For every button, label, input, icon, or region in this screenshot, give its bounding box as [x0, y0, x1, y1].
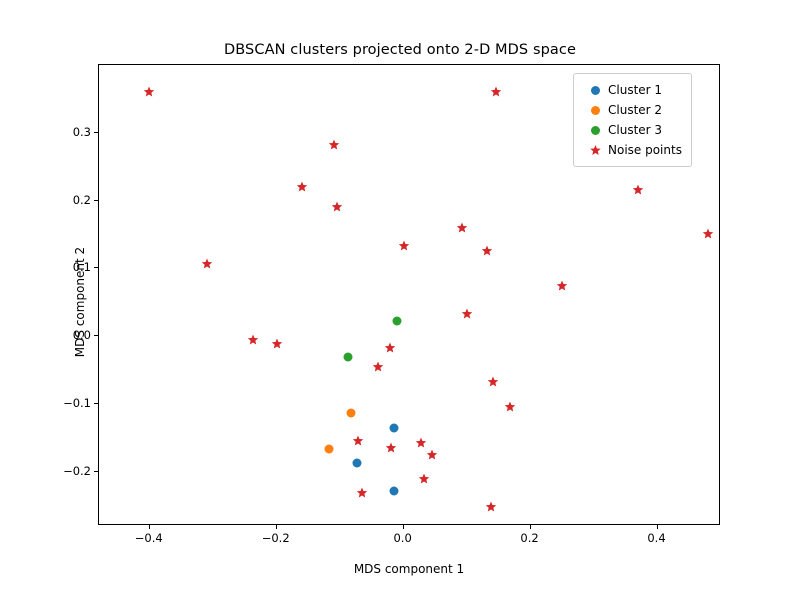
x-axis-tick	[403, 525, 404, 529]
data-point	[393, 317, 402, 326]
x-axis-tick-label: −0.2	[262, 531, 290, 545]
x-axis-tick	[530, 525, 531, 529]
data-point	[343, 352, 352, 361]
data-point	[457, 223, 468, 234]
legend-circle-icon	[582, 106, 608, 115]
data-point	[332, 202, 343, 213]
data-point	[271, 339, 282, 350]
data-point	[633, 184, 644, 195]
y-axis-tick	[94, 471, 98, 472]
legend-item[interactable]: Cluster 1	[582, 80, 682, 100]
data-point	[398, 241, 409, 252]
legend-item-label: Cluster 2	[608, 103, 662, 117]
y-axis-tick	[94, 403, 98, 404]
chart-title: DBSCAN clusters projected onto 2-D MDS s…	[0, 42, 800, 58]
data-point	[384, 342, 395, 353]
x-axis-tick-label: 0.0	[393, 531, 411, 545]
data-point	[373, 361, 384, 372]
data-point	[389, 424, 398, 433]
data-point	[418, 473, 429, 484]
data-point	[201, 259, 212, 270]
legend-star-icon	[582, 145, 608, 156]
data-point	[324, 444, 333, 453]
legend-item[interactable]: Cluster 2	[582, 100, 682, 120]
x-axis-tick-label: −0.4	[135, 531, 163, 545]
x-axis-tick	[657, 525, 658, 529]
x-axis-tick	[149, 525, 150, 529]
data-point	[416, 438, 427, 449]
data-point	[426, 450, 437, 461]
data-point	[462, 309, 473, 320]
x-axis-tick-label: 0.4	[647, 531, 665, 545]
chart-legend: Cluster 1Cluster 2Cluster 3Noise points	[573, 73, 692, 167]
y-axis-tick	[94, 132, 98, 133]
matplotlib-figure: DBSCAN clusters projected onto 2-D MDS s…	[0, 0, 800, 600]
legend-item-label: Cluster 3	[608, 123, 662, 137]
data-point	[352, 458, 361, 467]
legend-item[interactable]: Noise points	[582, 140, 682, 160]
data-point	[346, 409, 355, 418]
data-point	[505, 402, 516, 413]
x-axis-tick-label: 0.2	[520, 531, 538, 545]
legend-item[interactable]: Cluster 3	[582, 120, 682, 140]
x-axis-tick	[276, 525, 277, 529]
data-point	[297, 182, 308, 193]
data-point	[385, 443, 396, 454]
legend-item-label: Cluster 1	[608, 83, 662, 97]
y-axis-label: MDS component 2	[73, 202, 87, 402]
y-axis-tick	[94, 335, 98, 336]
y-axis-tick	[94, 267, 98, 268]
x-axis-label: MDS component 1	[98, 562, 720, 576]
y-axis-tick-label: −0.2	[63, 464, 91, 478]
y-axis-tick-label: 0.3	[73, 125, 91, 139]
data-point	[486, 502, 497, 513]
y-axis-tick	[94, 200, 98, 201]
data-point	[703, 229, 714, 240]
data-point	[143, 87, 154, 98]
data-point	[490, 87, 501, 98]
data-point	[247, 335, 258, 346]
data-point	[482, 246, 493, 257]
data-point	[328, 140, 339, 151]
legend-item-label: Noise points	[608, 143, 682, 157]
legend-circle-icon	[582, 126, 608, 135]
data-point	[352, 436, 363, 447]
data-point	[557, 281, 568, 292]
data-point	[356, 488, 367, 499]
legend-circle-icon	[582, 86, 608, 95]
data-point	[487, 376, 498, 387]
data-point	[390, 487, 399, 496]
